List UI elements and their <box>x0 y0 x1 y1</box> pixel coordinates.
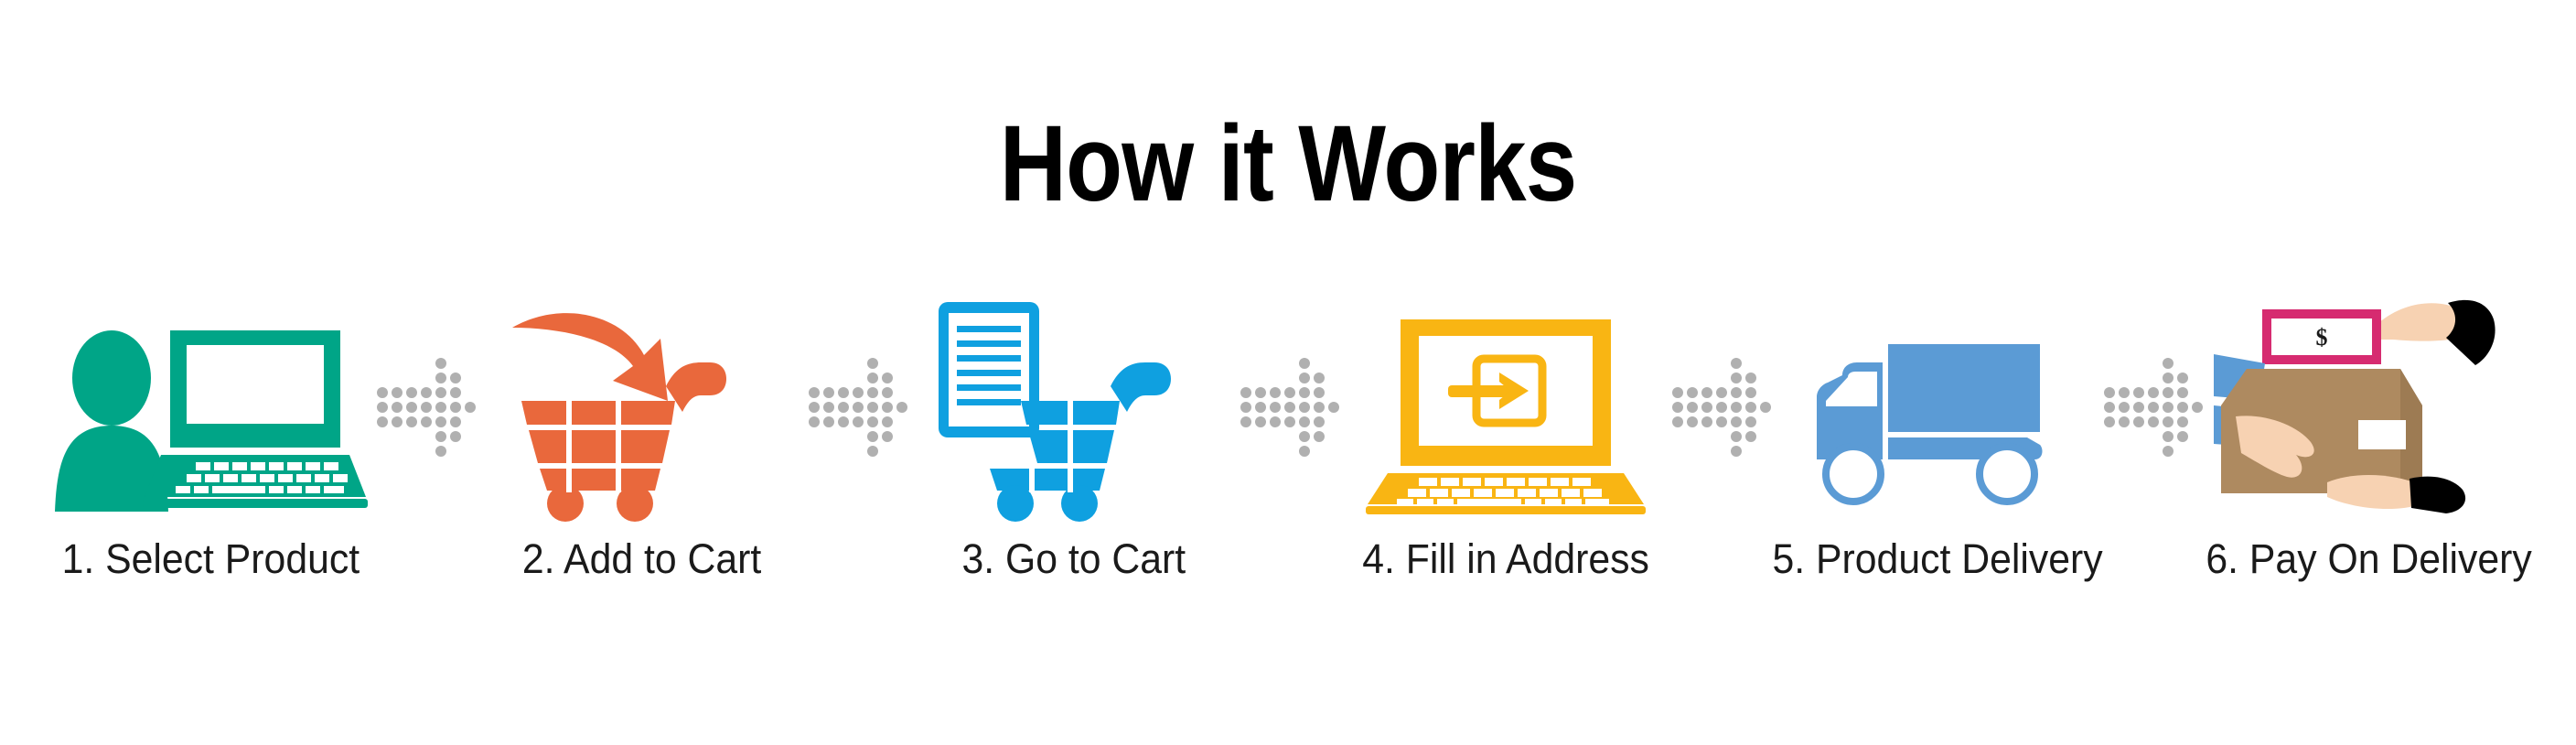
dot-arrow-grid <box>2102 356 2205 459</box>
step-label: 1. Select Product <box>61 536 360 582</box>
step-label: 6. Pay On Delivery <box>2206 536 2532 582</box>
step-label: 2. Add to Cart <box>522 536 761 582</box>
step-fill-in-address[interactable]: 4. Fill in Address <box>1332 302 1680 582</box>
step-select-product[interactable]: 1. Select Product <box>37 302 384 582</box>
hands-exchange-box-and-money-icon: $ <box>2195 302 2543 513</box>
step-pay-on-delivery[interactable]: $ <box>2195 302 2543 582</box>
dotted-arrow-right-icon <box>1240 302 1339 513</box>
dotted-arrow-right-icon <box>2104 302 2203 513</box>
step-product-delivery[interactable]: 5. Product Delivery <box>1764 302 2111 582</box>
person-at-laptop-icon <box>37 302 384 513</box>
dot-arrow-grid <box>1239 356 1341 459</box>
dot-arrow-grid <box>807 356 909 459</box>
laptop-login-icon <box>1332 302 1680 513</box>
document-and-cart-icon <box>900 302 1248 513</box>
delivery-truck-icon <box>1764 302 2111 513</box>
dot-arrow-grid <box>375 356 478 459</box>
cart-with-arrow-icon <box>468 302 816 513</box>
steps-container: 1. Select Product <box>37 302 2543 668</box>
step-add-to-cart[interactable]: 2. Add to Cart <box>468 302 816 582</box>
step-label: 5. Product Delivery <box>1772 536 2102 582</box>
dotted-arrow-right-icon <box>1672 302 1771 513</box>
infographic-page: How it Works <box>0 0 2576 745</box>
step-label: 4. Fill in Address <box>1362 536 1649 582</box>
money-symbol: $ <box>2316 324 2328 351</box>
step-go-to-cart[interactable]: 3. Go to Cart <box>900 302 1248 582</box>
step-label: 3. Go to Cart <box>962 536 1186 582</box>
page-title: How it Works <box>180 110 2396 218</box>
dotted-arrow-right-icon <box>809 302 907 513</box>
dotted-arrow-right-icon <box>377 302 476 513</box>
dot-arrow-grid <box>1670 356 1773 459</box>
